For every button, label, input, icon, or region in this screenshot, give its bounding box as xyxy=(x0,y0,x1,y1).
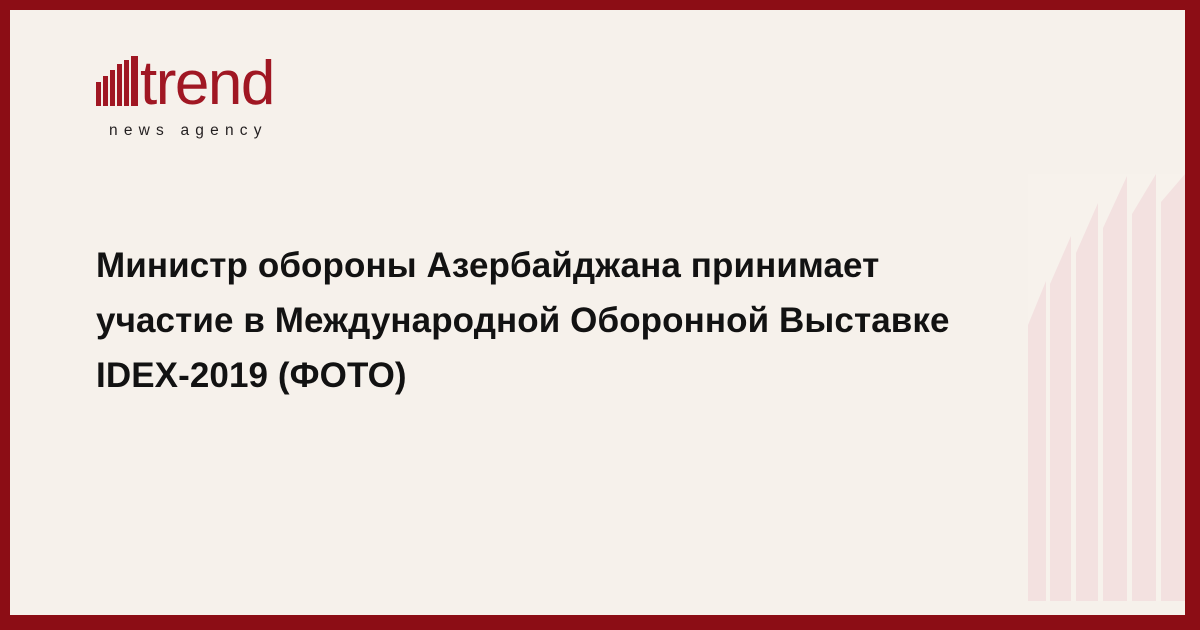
logo-tagline: news agency xyxy=(109,122,356,140)
trend-logo[interactable]: trend news agency xyxy=(96,44,356,140)
headline-line-3: IDEX-2019 (ФОТО) xyxy=(96,348,1056,403)
logo-mark-bar xyxy=(117,64,122,106)
watermark-bar xyxy=(1103,176,1127,601)
watermark-bar-bevel xyxy=(1161,174,1185,601)
logo-wordmark: trend xyxy=(140,53,274,115)
headline-line-2: участие в Международной Оборонной Выстав… xyxy=(96,293,1056,348)
watermark-bar-bevel xyxy=(1132,174,1156,601)
logo-row: trend xyxy=(96,44,356,106)
watermark-bar xyxy=(1076,203,1098,601)
logo-mark-bar xyxy=(110,70,115,106)
watermark-bar-bevel xyxy=(1103,176,1127,601)
watermark-bar xyxy=(1161,174,1185,601)
headline-line-1: Министр обороны Азербайджана принимает xyxy=(96,238,1056,293)
watermark-bar xyxy=(1132,174,1156,601)
logo-mark-bar xyxy=(96,82,101,106)
logo-mark-bar xyxy=(124,60,129,106)
logo-mark-bar xyxy=(131,56,138,106)
card-canvas: trend news agency Министр обороны Азерба… xyxy=(10,10,1185,615)
share-card: trend news agency Министр обороны Азерба… xyxy=(0,0,1200,630)
watermark-bar-bevel xyxy=(1076,203,1098,601)
page-title: Министр обороны Азербайджана принимает у… xyxy=(96,238,1056,403)
logo-mark-bar xyxy=(103,76,108,106)
